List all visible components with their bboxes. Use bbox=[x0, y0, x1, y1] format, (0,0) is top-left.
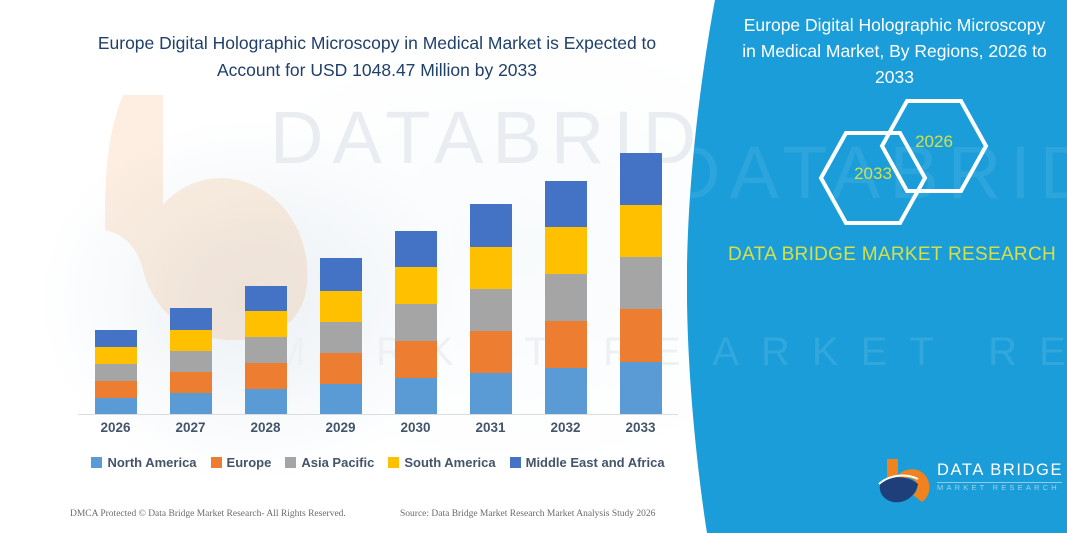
chart-bar-segment bbox=[320, 291, 362, 322]
chart-bar-segment bbox=[545, 181, 587, 227]
chart-bar-segment bbox=[170, 330, 212, 351]
chart-bar-segment bbox=[620, 205, 662, 257]
legend-swatch-icon bbox=[91, 457, 102, 468]
chart-bar-segment bbox=[320, 353, 362, 384]
chart-bar-segment bbox=[95, 398, 137, 415]
chart-bar-segment bbox=[170, 351, 212, 372]
chart-bar-segment bbox=[620, 309, 662, 362]
chart-bar-segment bbox=[245, 389, 287, 415]
logo-subtitle: MARKET RESEARCH bbox=[937, 483, 1063, 492]
chart-bar-segment bbox=[95, 347, 137, 364]
footer-source: Source: Data Bridge Market Research Mark… bbox=[400, 509, 655, 519]
chart-axis-line bbox=[78, 414, 678, 415]
chart-x-label: 2033 bbox=[603, 420, 678, 435]
chart-bar-segment bbox=[545, 368, 587, 415]
right-blue-panel: DATABRIDGE MARKET RESEARCH Europe Digita… bbox=[687, 0, 1067, 533]
chart-x-label: 2027 bbox=[153, 420, 228, 435]
chart-plot-area bbox=[78, 115, 678, 415]
chart-bar-segment bbox=[470, 289, 512, 331]
chart-column bbox=[78, 115, 153, 415]
page-title: Europe Digital Holographic Microscopy in… bbox=[72, 30, 682, 84]
chart-bar bbox=[395, 231, 437, 415]
chart-column bbox=[528, 115, 603, 415]
chart-bar-segment bbox=[320, 258, 362, 291]
chart-bar-segment bbox=[395, 378, 437, 415]
logo-divider bbox=[937, 482, 1062, 483]
chart-bar-segment bbox=[395, 304, 437, 341]
chart-column bbox=[228, 115, 303, 415]
legend-item[interactable]: Europe bbox=[211, 455, 272, 470]
chart-bar-segment bbox=[620, 362, 662, 415]
chart-bar-segment bbox=[170, 372, 212, 393]
legend-swatch-icon bbox=[285, 457, 296, 468]
chart-bar-segment bbox=[545, 274, 587, 321]
chart-bar-segment bbox=[470, 373, 512, 415]
chart-x-label: 2028 bbox=[228, 420, 303, 435]
chart-bar bbox=[170, 308, 212, 415]
hex-badge-2026: 2026 bbox=[879, 98, 989, 194]
chart-bar-segment bbox=[245, 337, 287, 363]
brand-name: DATA BRIDGE MARKET RESEARCH bbox=[727, 240, 1057, 269]
chart-bar-segment bbox=[545, 227, 587, 274]
chart-bar-segment bbox=[470, 331, 512, 373]
legend-swatch-icon bbox=[388, 457, 399, 468]
legend-item[interactable]: South America bbox=[388, 455, 495, 470]
panel-watermark-line2: MARKET RESEARCH bbox=[657, 330, 1067, 375]
infographic-canvas: DATABRIDGE MARKET RESEARCH Europe Digita… bbox=[0, 0, 1067, 533]
chart-x-label: 2032 bbox=[528, 420, 603, 435]
stacked-bar-chart bbox=[78, 110, 678, 415]
chart-column bbox=[453, 115, 528, 415]
chart-bar-segment bbox=[170, 308, 212, 330]
chart-bar-segment bbox=[395, 341, 437, 378]
chart-bar bbox=[320, 258, 362, 415]
chart-x-label: 2031 bbox=[453, 420, 528, 435]
chart-bar bbox=[545, 181, 587, 415]
data-bridge-logo-icon bbox=[877, 457, 933, 505]
chart-bar-segment bbox=[545, 321, 587, 368]
chart-bar-segment bbox=[620, 153, 662, 205]
chart-bar-segment bbox=[245, 363, 287, 389]
legend-swatch-icon bbox=[510, 457, 521, 468]
chart-legend: North AmericaEuropeAsia PacificSouth Ame… bbox=[78, 455, 678, 470]
chart-x-label: 2026 bbox=[78, 420, 153, 435]
chart-bar-segment bbox=[395, 267, 437, 304]
chart-column bbox=[603, 115, 678, 415]
legend-item[interactable]: Middle East and Africa bbox=[510, 455, 665, 470]
legend-item[interactable]: North America bbox=[91, 455, 196, 470]
chart-bar-segment bbox=[95, 364, 137, 381]
chart-bar-segment bbox=[395, 231, 437, 267]
chart-bar-segment bbox=[95, 330, 137, 347]
chart-bar-segment bbox=[320, 322, 362, 353]
chart-column bbox=[303, 115, 378, 415]
chart-bar-segment bbox=[170, 393, 212, 415]
panel-title: Europe Digital Holographic Microscopy in… bbox=[737, 12, 1052, 90]
chart-bar-segment bbox=[470, 204, 512, 247]
chart-bar-segment bbox=[95, 381, 137, 398]
legend-item[interactable]: Asia Pacific bbox=[285, 455, 374, 470]
legend-label: South America bbox=[404, 455, 495, 470]
legend-swatch-icon bbox=[211, 457, 222, 468]
chart-x-axis-labels: 20262027202820292030203120322033 bbox=[78, 420, 678, 435]
data-bridge-logo: DATA BRIDGE MARKET RESEARCH bbox=[877, 455, 1067, 510]
hexagon-badges: 2033 2026 bbox=[687, 98, 1067, 208]
chart-x-label: 2029 bbox=[303, 420, 378, 435]
legend-label: Europe bbox=[227, 455, 272, 470]
chart-bar-segment bbox=[245, 311, 287, 337]
chart-bar bbox=[95, 330, 137, 415]
chart-bar-segment bbox=[470, 247, 512, 289]
chart-x-label: 2030 bbox=[378, 420, 453, 435]
chart-bar-segment bbox=[320, 384, 362, 415]
footer-copyright: DMCA Protected © Data Bridge Market Rese… bbox=[70, 509, 346, 519]
chart-bar bbox=[620, 153, 662, 415]
chart-column bbox=[153, 115, 228, 415]
chart-bar-segment bbox=[620, 257, 662, 309]
chart-column bbox=[378, 115, 453, 415]
legend-label: Middle East and Africa bbox=[526, 455, 665, 470]
hex-badge-2026-label: 2026 bbox=[879, 132, 989, 152]
chart-bar bbox=[245, 286, 287, 415]
legend-label: Asia Pacific bbox=[301, 455, 374, 470]
chart-bar bbox=[470, 204, 512, 415]
chart-bar-segment bbox=[245, 286, 287, 311]
logo-title: DATA BRIDGE bbox=[937, 461, 1063, 480]
legend-label: North America bbox=[107, 455, 196, 470]
